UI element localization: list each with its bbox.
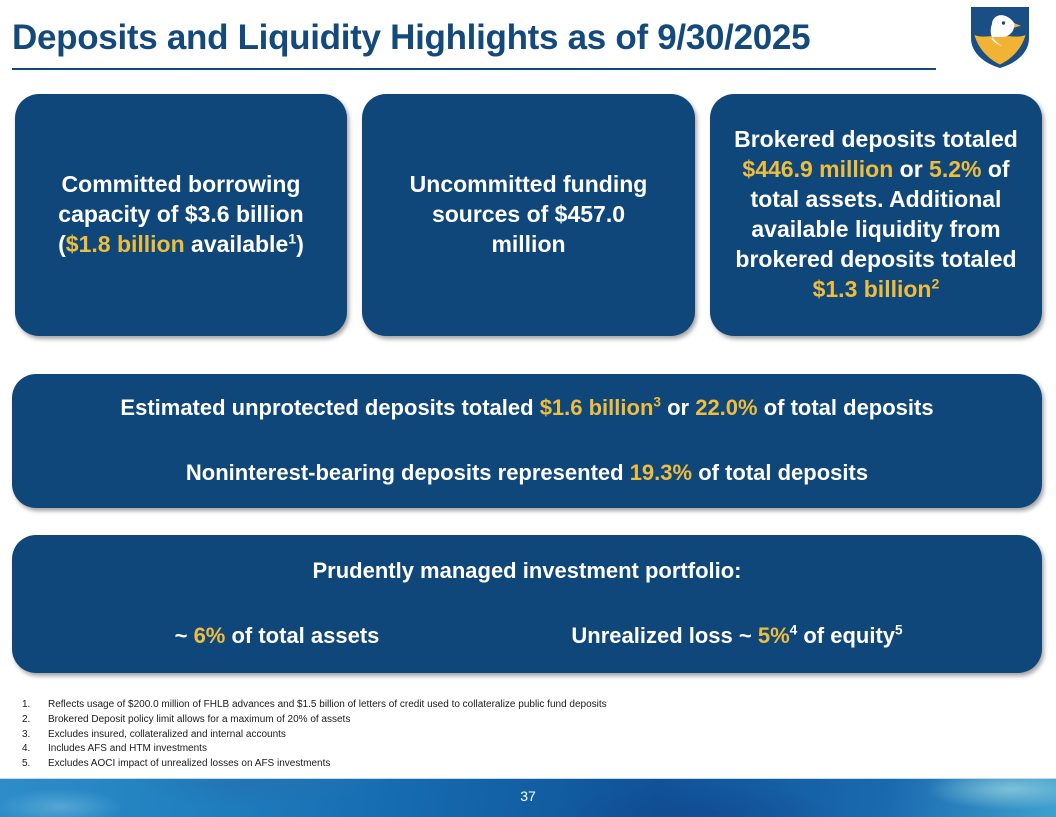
card-investment-portfolio: Prudently managed investment portfolio: … — [12, 535, 1042, 673]
brokered-amount-pct: 5.2% — [929, 156, 981, 182]
card-investment-portfolio-text: Prudently managed investment portfolio: … — [12, 557, 1042, 650]
footnotes-list: 1. Reflects usage of $200.0 million of F… — [22, 698, 922, 772]
deposits-unprotected-amount: $1.6 billion — [540, 395, 654, 420]
card-brokered-deposits: Brokered deposits totaled $446.9 million… — [710, 94, 1042, 336]
brokered-seg2: or — [893, 156, 929, 182]
borrowing-line2: capacity of $3.6 billion — [58, 201, 303, 227]
card-uncommitted-funding: Uncommitted funding sources of $457.0 mi… — [362, 94, 695, 336]
deposits-seg3: of total deposits — [758, 395, 934, 420]
portfolio-assets-suffix: of total assets — [225, 623, 379, 648]
borrowing-paren-open: ( — [58, 231, 66, 257]
portfolio-equity-prefix: Unrealized loss ~ — [571, 623, 757, 648]
portfolio-equity-pct: 5% — [758, 623, 790, 648]
footnote-item: 2. Brokered Deposit policy limit allows … — [22, 713, 922, 728]
brokered-footnote-marker: 2 — [931, 276, 939, 292]
footnote-item: 1. Reflects usage of $200.0 million of F… — [22, 698, 922, 713]
portfolio-equity-footnote-marker-5: 5 — [895, 623, 903, 638]
footnote-number: 3. — [22, 728, 48, 743]
deposits-unprotected-line: Estimated unprotected deposits totaled $… — [28, 394, 1026, 423]
eagle-shield-logo — [968, 4, 1032, 70]
footnote-item: 5. Excludes AOCI impact of unrealized lo… — [22, 757, 922, 772]
portfolio-stat-total-assets: ~ 6% of total assets — [67, 622, 487, 651]
footnote-number: 4. — [22, 742, 48, 757]
title-underline-rule — [12, 68, 936, 70]
footnote-item: 4. Includes AFS and HTM investments — [22, 742, 922, 757]
footnote-text: Excludes insured, collateralized and int… — [48, 728, 922, 743]
card-committed-borrowing-text: Committed borrowing capacity of $3.6 bil… — [15, 170, 347, 260]
uncommitted-line3: million — [491, 231, 565, 257]
uncommitted-line2: sources of $457.0 — [432, 201, 625, 227]
borrowing-footnote-marker: 1 — [288, 231, 296, 247]
footnote-text: Excludes AOCI impact of unrealized losse… — [48, 757, 922, 772]
noninterest-seg2: of total deposits — [692, 460, 868, 485]
borrowing-paren-close: ) — [296, 231, 304, 257]
portfolio-equity-suffix: of equity — [797, 623, 895, 648]
borrowing-available-tail: available — [185, 231, 289, 257]
card-brokered-deposits-text: Brokered deposits totaled $446.9 million… — [710, 125, 1042, 304]
footnote-text: Brokered Deposit policy limit allows for… — [48, 713, 922, 728]
brokered-seg1: Brokered deposits totaled — [734, 126, 1018, 152]
portfolio-stat-unrealized-loss: Unrealized loss ~ 5%4 of equity5 — [487, 622, 987, 651]
footnote-text: Includes AFS and HTM investments — [48, 742, 922, 757]
portfolio-assets-prefix: ~ — [175, 623, 194, 648]
portfolio-heading: Prudently managed investment portfolio: — [28, 557, 1026, 586]
noninterest-seg1: Noninterest-bearing deposits represented — [186, 460, 630, 485]
footnote-number: 2. — [22, 713, 48, 728]
deposits-footnote-marker: 3 — [653, 395, 661, 410]
footnote-item: 3. Excludes insured, collateralized and … — [22, 728, 922, 743]
brokered-amount-liquidity: $1.3 billion — [813, 276, 932, 302]
footnote-number: 1. — [22, 698, 48, 713]
footnote-number: 5. — [22, 757, 48, 772]
brokered-amount-total: $446.9 million — [742, 156, 893, 182]
card-uncommitted-funding-text: Uncommitted funding sources of $457.0 mi… — [362, 170, 695, 260]
page-title: Deposits and Liquidity Highlights as of … — [12, 18, 810, 58]
deposits-noninterest-line: Noninterest-bearing deposits represented… — [28, 459, 1026, 488]
portfolio-assets-pct: 6% — [194, 623, 226, 648]
deposits-seg2: or — [661, 395, 695, 420]
card-committed-borrowing: Committed borrowing capacity of $3.6 bil… — [15, 94, 347, 336]
portfolio-stats-row: ~ 6% of total assets Unrealized loss ~ 5… — [28, 622, 1026, 651]
footnote-text: Reflects usage of $200.0 million of FHLB… — [48, 698, 922, 713]
slide-header: Deposits and Liquidity Highlights as of … — [0, 0, 1056, 86]
page-number: 37 — [0, 788, 1056, 804]
deposits-unprotected-pct: 22.0% — [695, 395, 757, 420]
deposits-seg1: Estimated unprotected deposits totaled — [120, 395, 539, 420]
slide-footer-band: 37 — [0, 778, 1056, 817]
borrowing-available-amount: $1.8 billion — [66, 231, 185, 257]
noninterest-pct: 19.3% — [630, 460, 692, 485]
card-deposit-composition: Estimated unprotected deposits totaled $… — [12, 374, 1042, 508]
uncommitted-line1: Uncommitted funding — [410, 171, 648, 197]
card-deposit-composition-text: Estimated unprotected deposits totaled $… — [12, 394, 1042, 487]
borrowing-line1: Committed borrowing — [62, 171, 301, 197]
